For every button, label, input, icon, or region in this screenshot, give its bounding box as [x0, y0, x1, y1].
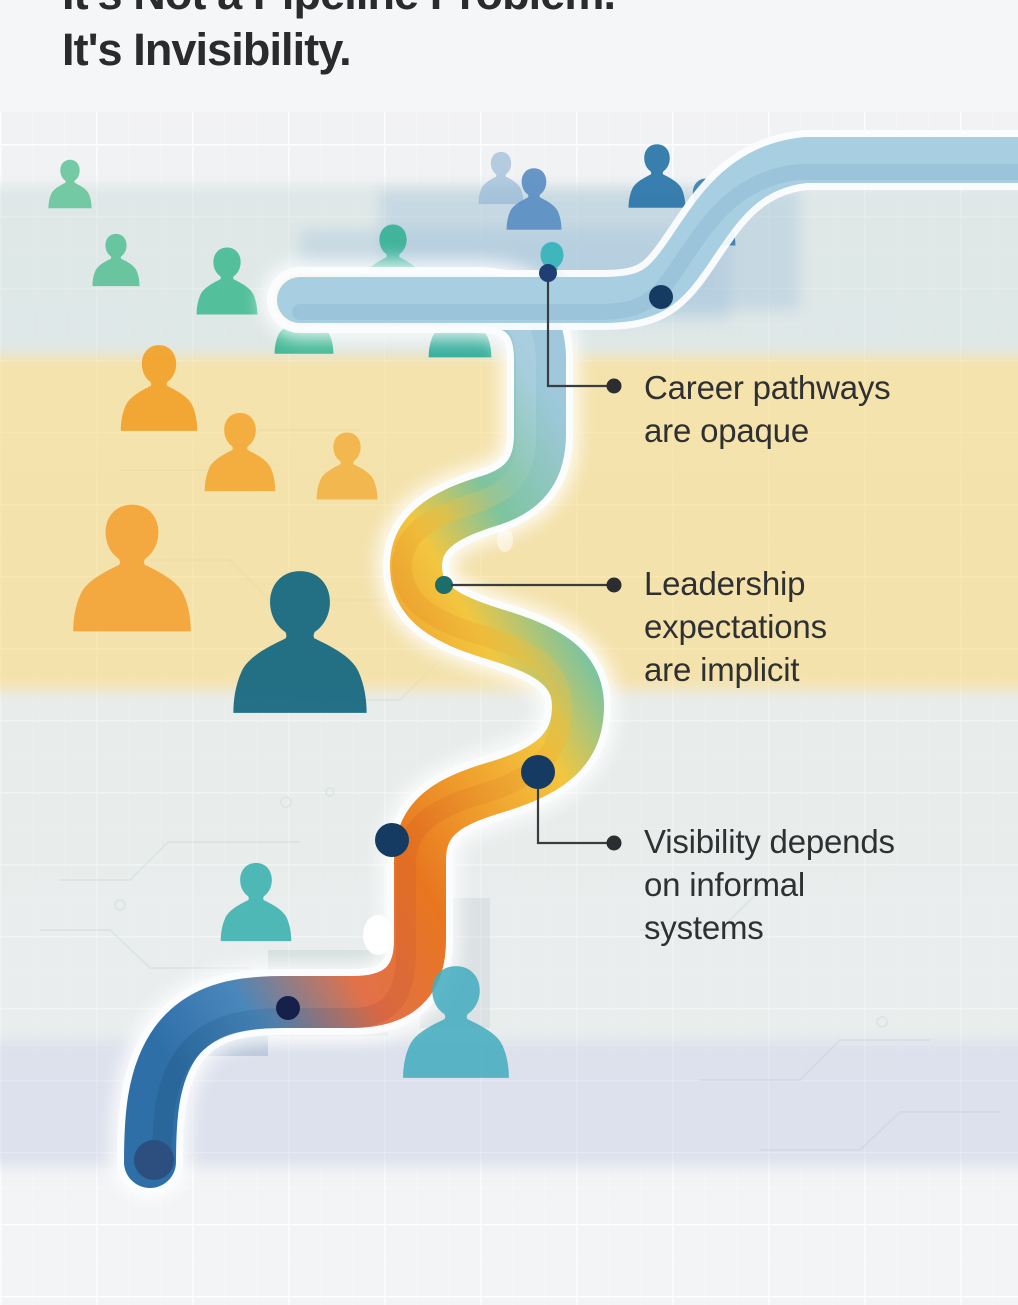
- annotation-line: expectations: [644, 605, 1018, 648]
- annotation-line: Leadership: [644, 562, 1018, 605]
- annotation-leadership-expectations: Leadership expectations are implicit: [644, 562, 1018, 691]
- title-block: It's Not a Pipeline Problem. It's Invisi…: [62, 0, 992, 78]
- annotation-line: on informal: [644, 863, 1018, 906]
- milestone-top: [649, 285, 673, 309]
- annotation-informal-systems: Visibility depends on informal systems: [644, 820, 1018, 949]
- annotation-line: are opaque: [644, 409, 1018, 452]
- annotation-line: are implicit: [644, 648, 1018, 691]
- milestone-mid: [435, 576, 453, 594]
- annotation-line: Career pathways: [644, 366, 1018, 409]
- annotation-career-pathways: Career pathways are opaque: [644, 366, 1018, 452]
- milestone-base: [276, 996, 300, 1020]
- milestone-upper: [539, 264, 557, 282]
- ribbon-highlight-1: [363, 915, 393, 955]
- infographic-root: Career pathways are opaque Leadership ex…: [0, 0, 1018, 1305]
- header: It's Not a Pipeline Problem. It's Invisi…: [0, 0, 1018, 112]
- milestone-start: [134, 1140, 174, 1180]
- milestone-lower: [521, 755, 555, 789]
- annotation-line: Visibility depends: [644, 820, 1018, 863]
- ribbon-highlight-2: [497, 528, 513, 552]
- annotation-line: systems: [644, 906, 1018, 949]
- page-title: It's Invisibility.: [62, 22, 992, 78]
- milestone-low: [375, 823, 409, 857]
- page-title-cut-line: It's Not a Pipeline Problem.: [62, 0, 992, 22]
